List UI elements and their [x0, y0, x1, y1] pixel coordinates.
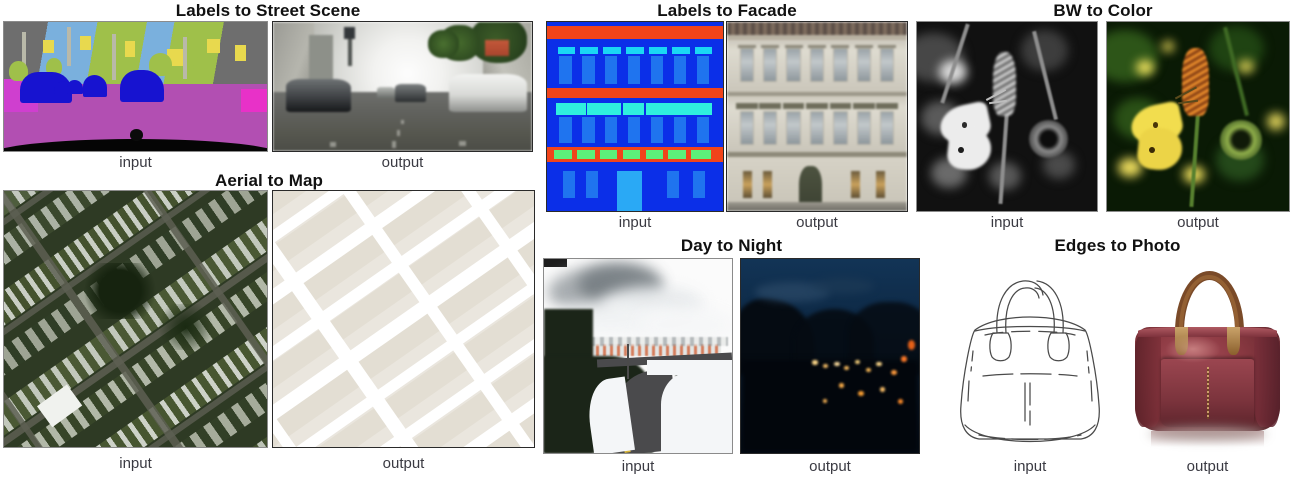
handbag-edge-sketch	[945, 255, 1115, 455]
image-edges-to-photo-output	[1125, 255, 1290, 455]
panel-title-aerial-to-map: Aerial to Map	[3, 172, 535, 189]
figure-canvas: Labels to Street Scene Aerial to Map Lab…	[0, 0, 1300, 479]
caption-edges-to-photo-output: output	[1125, 459, 1290, 474]
caption-bw-to-color-input: input	[916, 215, 1098, 230]
caption-day-to-night-input: input	[543, 459, 733, 474]
panel-title-labels-to-facade: Labels to Facade	[546, 2, 908, 19]
caption-labels-to-street-scene-output: output	[272, 155, 533, 170]
image-labels-to-facade-input	[546, 21, 724, 212]
image-aerial-to-map-output	[272, 190, 535, 448]
image-labels-to-street-scene-output	[272, 21, 533, 152]
image-labels-to-facade-output	[726, 21, 908, 212]
caption-edges-to-photo-input: input	[945, 459, 1115, 474]
caption-aerial-to-map-input: input	[3, 456, 268, 471]
panel-title-bw-to-color: BW to Color	[916, 2, 1290, 19]
caption-aerial-to-map-output: output	[272, 456, 535, 471]
image-bw-to-color-input	[916, 21, 1098, 212]
caption-labels-to-street-scene-input: input	[3, 155, 268, 170]
caption-bw-to-color-output: output	[1106, 215, 1290, 230]
panel-title-day-to-night: Day to Night	[543, 237, 920, 254]
panel-title-edges-to-photo: Edges to Photo	[945, 237, 1290, 254]
image-day-to-night-output	[740, 258, 920, 454]
image-aerial-to-map-input	[3, 190, 268, 448]
panel-title-labels-to-street-scene: Labels to Street Scene	[3, 2, 533, 19]
image-edges-to-photo-input	[945, 255, 1115, 455]
image-bw-to-color-output	[1106, 21, 1290, 212]
caption-day-to-night-output: output	[740, 459, 920, 474]
caption-labels-to-facade-output: output	[726, 215, 908, 230]
caption-labels-to-facade-input: input	[546, 215, 724, 230]
image-labels-to-street-scene-input	[3, 21, 268, 152]
image-day-to-night-input	[543, 258, 733, 454]
